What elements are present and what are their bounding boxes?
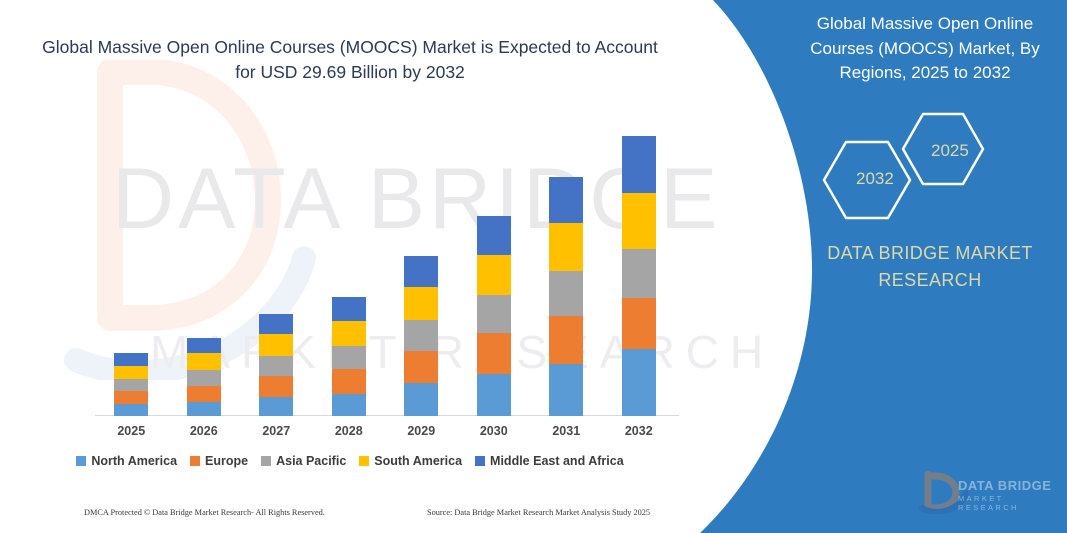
bar-segment-asia-pacific[interactable] xyxy=(114,379,148,391)
bar-segment-europe[interactable] xyxy=(622,298,656,349)
bar-segment-south-america[interactable] xyxy=(549,223,583,271)
x-axis-labels: 20252026202720282029203020312032 xyxy=(95,424,675,444)
brand-name: DATA BRIDGE MARKET RESEARCH xyxy=(800,240,1060,294)
bar-segment-north-america[interactable] xyxy=(259,397,293,416)
bar-segment-europe[interactable] xyxy=(549,316,583,364)
legend-label: Europe xyxy=(205,454,248,468)
bar-segment-middle-east-and-africa[interactable] xyxy=(259,314,293,334)
legend-label: North America xyxy=(91,454,177,468)
bar-segment-south-america[interactable] xyxy=(114,366,148,379)
bar-segment-asia-pacific[interactable] xyxy=(187,370,221,386)
bar-2027[interactable] xyxy=(259,314,293,416)
bar-segment-south-america[interactable] xyxy=(259,334,293,356)
bar-2029[interactable] xyxy=(404,256,438,416)
bar-2026[interactable] xyxy=(187,338,221,416)
bar-2025[interactable] xyxy=(114,353,148,416)
bar-segment-south-america[interactable] xyxy=(404,287,438,320)
bar-segment-south-america[interactable] xyxy=(332,321,366,346)
corner-logo-sub: MARKET RESEARCH xyxy=(958,494,1067,512)
chart-legend: North AmericaEuropeAsia PacificSouth Ame… xyxy=(0,454,700,468)
bar-segment-south-america[interactable] xyxy=(477,255,511,295)
bar-segment-middle-east-and-africa[interactable] xyxy=(477,216,511,255)
bar-segment-asia-pacific[interactable] xyxy=(477,295,511,333)
bar-segment-asia-pacific[interactable] xyxy=(259,356,293,376)
hexagon-year-badges: 2025 2032 xyxy=(818,110,1018,220)
bar-segment-north-america[interactable] xyxy=(549,364,583,416)
bar-segment-europe[interactable] xyxy=(114,391,148,404)
bar-segment-north-america[interactable] xyxy=(404,383,438,416)
x-axis-label-2031: 2031 xyxy=(536,424,596,438)
corner-logo-text: DATA BRIDGE MARKET RESEARCH xyxy=(958,478,1067,512)
chart-title: Global Massive Open Online Courses (MOOC… xyxy=(40,35,660,86)
right-panel-title: Global Massive Open Online Courses (MOOC… xyxy=(790,12,1060,86)
legend-item-asia-pacific[interactable]: Asia Pacific xyxy=(261,454,346,468)
footer-source: Source: Data Bridge Market Research Mark… xyxy=(427,508,650,517)
bar-2031[interactable] xyxy=(549,177,583,416)
bar-segment-south-america[interactable] xyxy=(187,353,221,370)
bar-segment-europe[interactable] xyxy=(477,333,511,374)
x-axis-label-2028: 2028 xyxy=(319,424,379,438)
corner-logo-main: DATA BRIDGE xyxy=(958,478,1067,493)
brand-line-2: RESEARCH xyxy=(878,270,981,290)
hexagon-2032-label: 2032 xyxy=(856,169,894,189)
legend-label: South America xyxy=(374,454,462,468)
bar-segment-asia-pacific[interactable] xyxy=(332,346,366,369)
bar-2032[interactable] xyxy=(622,136,656,416)
bar-segment-europe[interactable] xyxy=(259,376,293,397)
bar-segment-north-america[interactable] xyxy=(477,374,511,416)
legend-swatch-icon xyxy=(475,456,485,466)
bar-segment-asia-pacific[interactable] xyxy=(404,320,438,351)
bar-2030[interactable] xyxy=(477,216,511,416)
legend-label: Asia Pacific xyxy=(276,454,346,468)
bar-segment-asia-pacific[interactable] xyxy=(622,249,656,298)
bar-segment-asia-pacific[interactable] xyxy=(549,271,583,316)
legend-swatch-icon xyxy=(190,456,200,466)
legend-swatch-icon xyxy=(261,456,271,466)
legend-item-europe[interactable]: Europe xyxy=(190,454,248,468)
hexagon-2025-label: 2025 xyxy=(931,141,969,161)
bar-segment-north-america[interactable] xyxy=(187,402,221,416)
bar-chart-plot xyxy=(95,120,675,416)
bar-segment-middle-east-and-africa[interactable] xyxy=(622,136,656,193)
bar-segment-europe[interactable] xyxy=(332,369,366,394)
bar-segment-south-america[interactable] xyxy=(622,193,656,249)
bar-segment-europe[interactable] xyxy=(187,386,221,402)
left-chart-panel: DATA BRIDGE MARKET RESEARCH Global Massi… xyxy=(0,0,830,533)
bar-segment-north-america[interactable] xyxy=(622,349,656,416)
bar-segment-middle-east-and-africa[interactable] xyxy=(114,353,148,366)
x-axis-label-2029: 2029 xyxy=(391,424,451,438)
bar-segment-middle-east-and-africa[interactable] xyxy=(549,177,583,223)
x-axis-label-2032: 2032 xyxy=(609,424,669,438)
legend-label: Middle East and Africa xyxy=(490,454,624,468)
footer-copyright: DMCA Protected © Data Bridge Market Rese… xyxy=(84,508,325,517)
legend-item-north-america[interactable]: North America xyxy=(76,454,177,468)
bar-segment-middle-east-and-africa[interactable] xyxy=(404,256,438,287)
x-axis-label-2026: 2026 xyxy=(174,424,234,438)
bar-2028[interactable] xyxy=(332,297,366,416)
x-axis-label-2027: 2027 xyxy=(246,424,306,438)
legend-item-south-america[interactable]: South America xyxy=(359,454,462,468)
bar-segment-middle-east-and-africa[interactable] xyxy=(187,338,221,353)
bar-segment-middle-east-and-africa[interactable] xyxy=(332,297,366,321)
x-axis-label-2025: 2025 xyxy=(101,424,161,438)
bar-segment-europe[interactable] xyxy=(404,351,438,383)
brand-line-1: DATA BRIDGE MARKET xyxy=(827,243,1033,263)
legend-swatch-icon xyxy=(359,456,369,466)
bar-segment-north-america[interactable] xyxy=(332,394,366,416)
infographic-root: DATA BRIDGE MARKET RESEARCH Global Massi… xyxy=(0,0,1067,533)
bar-segment-north-america[interactable] xyxy=(114,404,148,416)
legend-swatch-icon xyxy=(76,456,86,466)
x-axis-label-2030: 2030 xyxy=(464,424,524,438)
legend-item-middle-east-and-africa[interactable]: Middle East and Africa xyxy=(475,454,624,468)
hexagon-shapes xyxy=(818,110,1018,220)
